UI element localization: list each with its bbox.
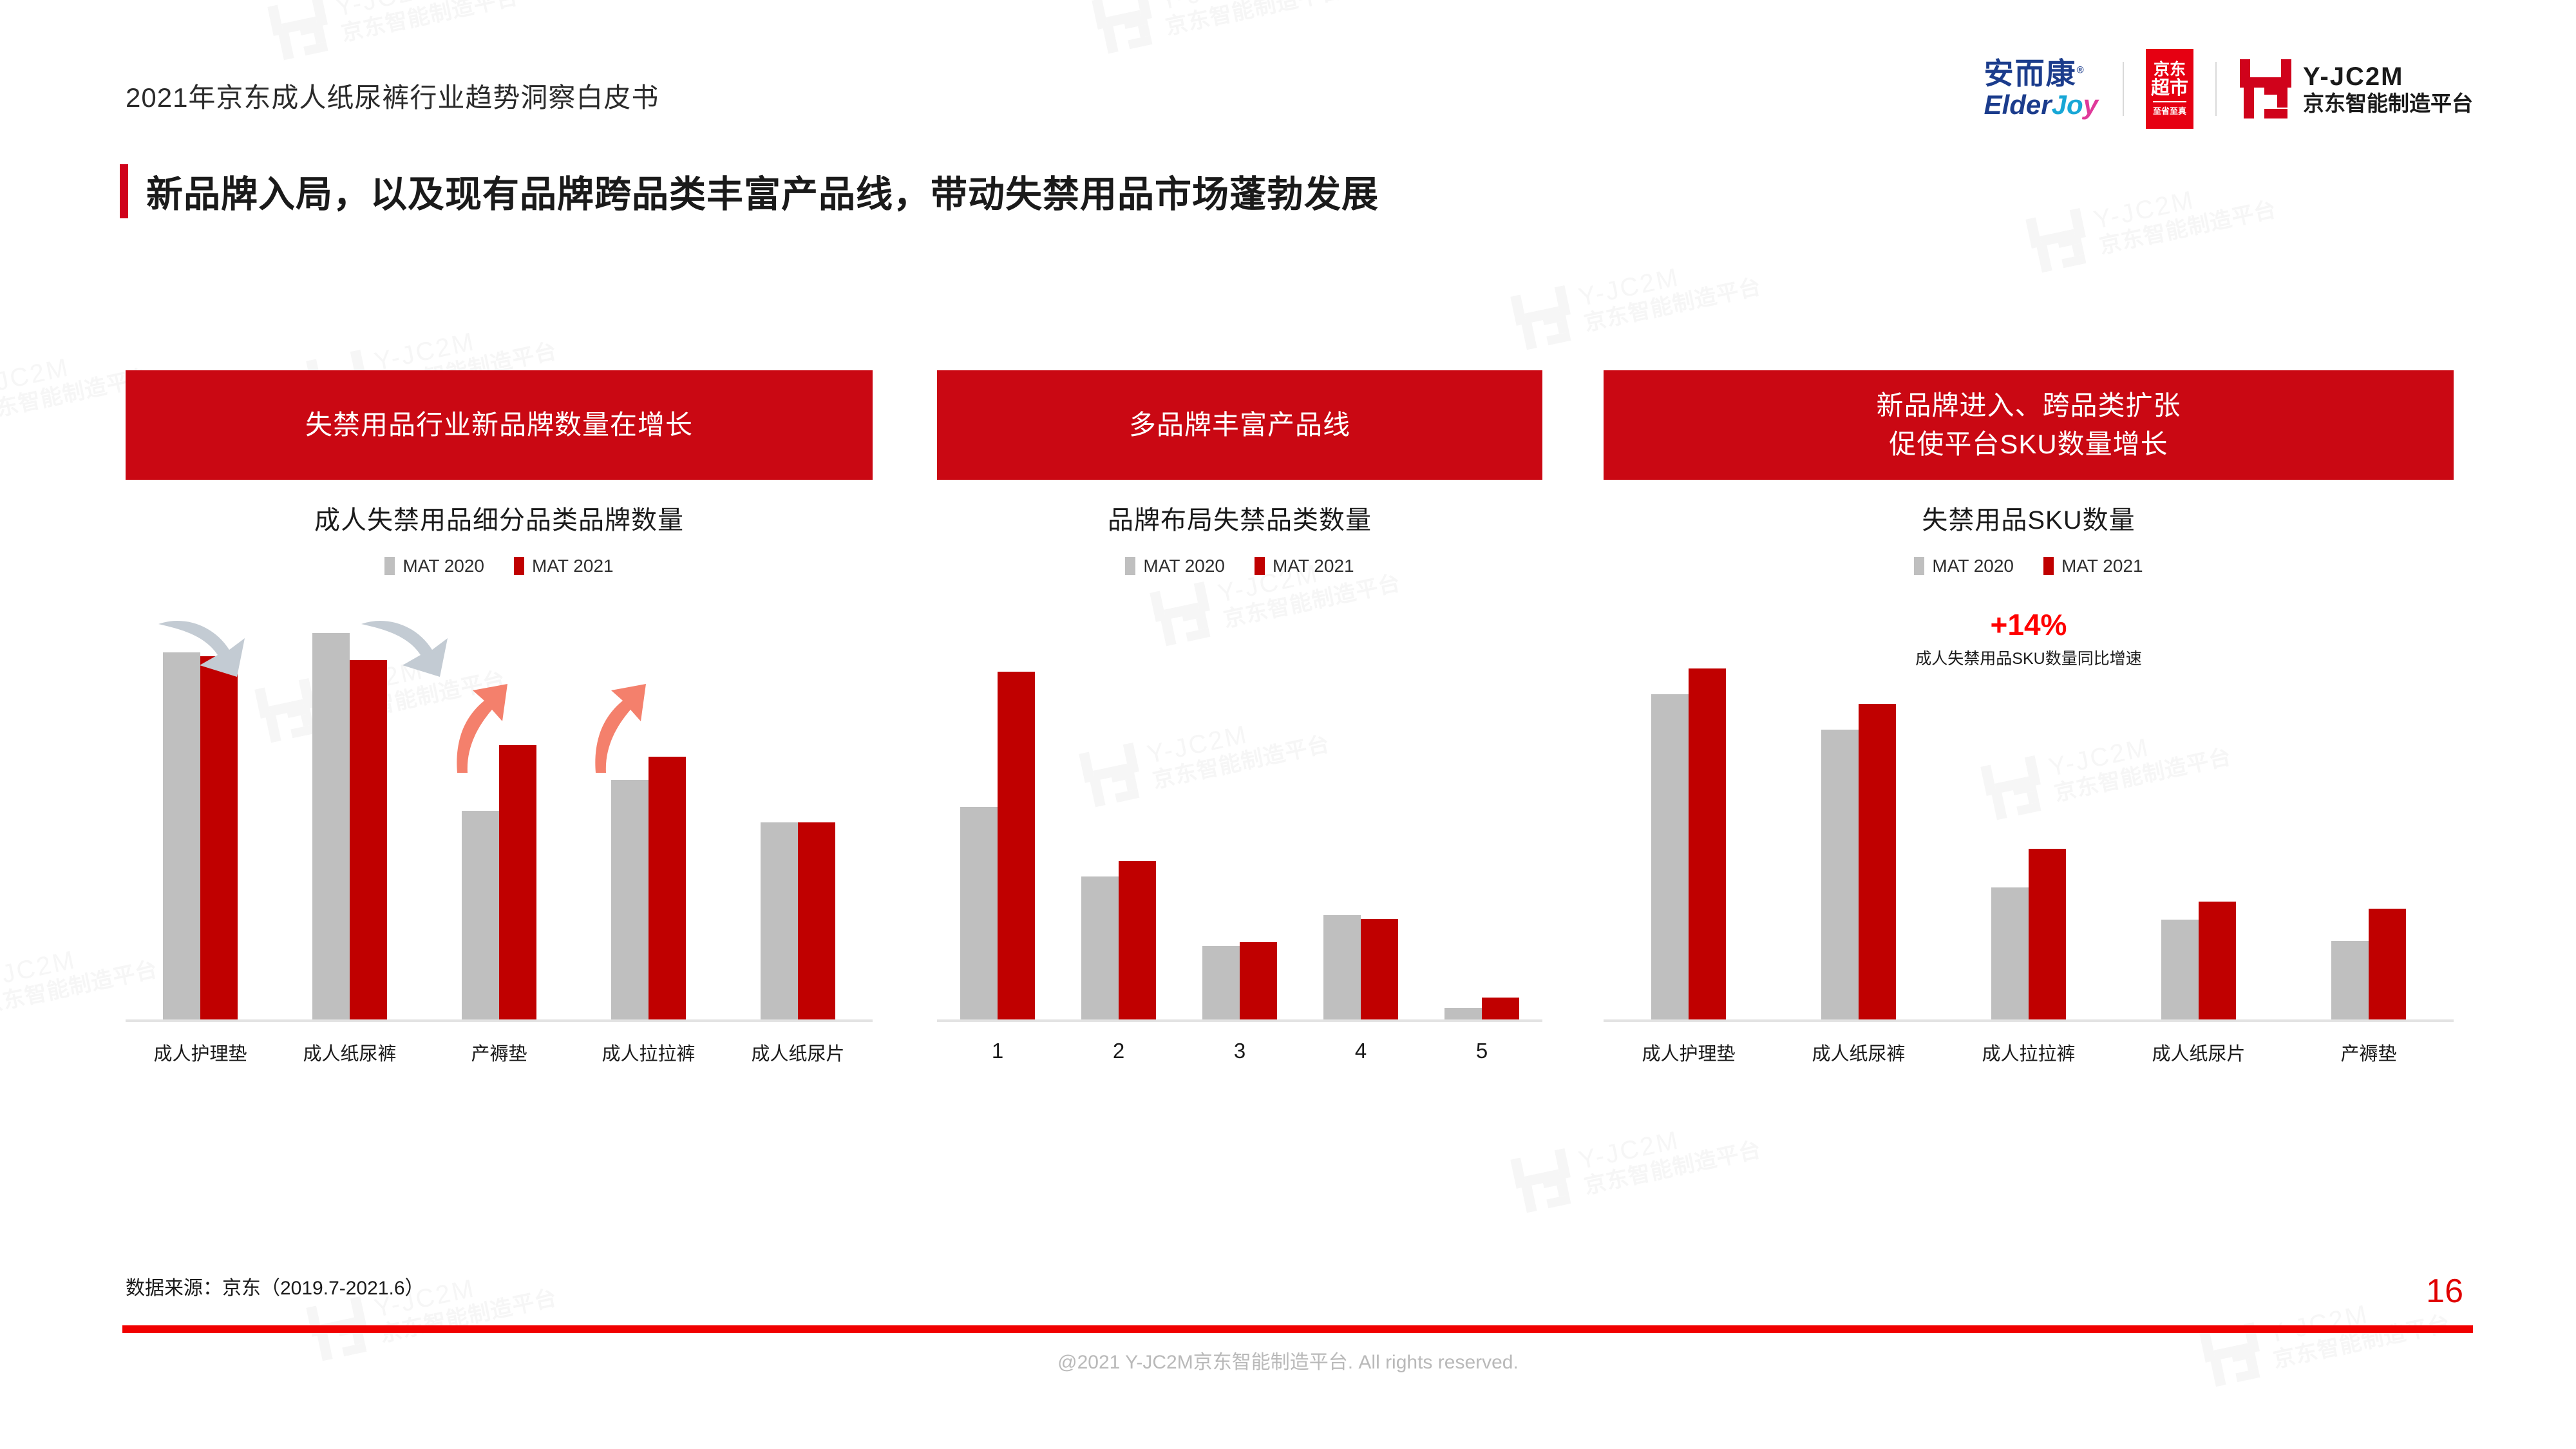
bar-mat2020 bbox=[1991, 887, 2029, 1019]
down-arrow-icon-2 bbox=[357, 610, 454, 684]
watermark-en: Y-JC2M bbox=[2091, 169, 2273, 235]
watermark-cn: 京东智能制造平台 bbox=[1164, 0, 1345, 40]
panel-banner-line: 多品牌丰富产品线 bbox=[1129, 406, 1350, 444]
legend-swatch-gray bbox=[1125, 557, 1135, 575]
bar-mat2020 bbox=[960, 807, 998, 1019]
yjc2m-en-text: Y-JC2M bbox=[2303, 62, 2473, 91]
jd-supermarket-line3: 至省至真 bbox=[2153, 101, 2186, 117]
bar-mat2021 bbox=[1689, 668, 1726, 1019]
bar-group bbox=[1179, 942, 1300, 1019]
title-accent-bar bbox=[120, 164, 128, 218]
watermark-en: Y-JC2M bbox=[2265, 1283, 2447, 1349]
panel-banner: 多品牌丰富产品线 bbox=[937, 370, 1542, 480]
panel-banner-line: 新品牌进入、跨品类扩张 bbox=[1876, 386, 2181, 425]
panel-banner: 新品牌进入、跨品类扩张 促使平台SKU数量增长 bbox=[1604, 370, 2454, 480]
legend-item-mat2021: MAT 2021 bbox=[2043, 556, 2143, 576]
chart-title: 品牌布局失禁品类数量 bbox=[937, 499, 1542, 536]
bar-mat2020 bbox=[1081, 876, 1119, 1019]
bar-group bbox=[723, 822, 873, 1019]
registered-mark-icon: ® bbox=[2077, 65, 2085, 76]
elderjoy-logo: 安而康® ElderJoy bbox=[1984, 59, 2123, 119]
bar-mat2020 bbox=[1202, 946, 1240, 1019]
page-title: 新品牌入局，以及现有品牌跨品类丰富产品线，带动失禁用品市场蓬勃发展 bbox=[120, 164, 1379, 218]
legend-swatch-gray bbox=[384, 557, 395, 575]
logo-group: 安而康® ElderJoy 京东 超市 至省至真 Y-JC2M 京东智能制造平台 bbox=[1984, 50, 2473, 128]
panel-brand-count: 失禁用品行业新品牌数量在增长 成人失禁用品细分品类品牌数量 MAT 2020 M… bbox=[126, 370, 873, 1066]
watermark: Y-JC2M京东智能制造平台 bbox=[2025, 168, 2278, 274]
chart-plot-area bbox=[937, 616, 1542, 1022]
x-label: 4 bbox=[1300, 1039, 1421, 1063]
elderjoy-y-glyph: y bbox=[2083, 90, 2098, 120]
copyright-text: @2021 Y-JC2M京东智能制造平台. All rights reserve… bbox=[0, 1346, 2576, 1374]
bar-group bbox=[2114, 902, 2284, 1019]
x-label: 3 bbox=[1179, 1039, 1300, 1063]
bar-mat2020 bbox=[2331, 941, 2369, 1019]
watermark: Y-JC2M京东智能制造平台 bbox=[1092, 0, 1345, 55]
bar-group bbox=[126, 652, 275, 1019]
x-label: 成人护理垫 bbox=[126, 1039, 275, 1066]
x-label: 产褥垫 bbox=[424, 1039, 574, 1066]
up-arrow-icon-2 bbox=[583, 677, 647, 777]
watermark-en: Y-JC2M bbox=[372, 311, 554, 377]
bar-mat2020 bbox=[611, 780, 649, 1019]
elderjoy-o-glyph: o bbox=[2067, 90, 2083, 120]
bar-group bbox=[275, 633, 424, 1019]
chart-category-coverage: 1 2 3 4 5 bbox=[937, 616, 1542, 1063]
legend-item-mat2021: MAT 2021 bbox=[514, 556, 614, 576]
x-label: 1 bbox=[937, 1039, 1058, 1063]
bar-mat2021 bbox=[1240, 942, 1277, 1019]
bar-mat2020 bbox=[2161, 920, 2199, 1019]
legend-label: MAT 2020 bbox=[402, 556, 484, 576]
chart-legend: MAT 2020 MAT 2021 bbox=[1604, 556, 2454, 576]
bar-mat2021 bbox=[798, 822, 835, 1019]
growth-caption: 成人失禁用品SKU数量同比增速 bbox=[1765, 646, 2293, 669]
bar-mat2021 bbox=[1482, 998, 1519, 1019]
bar-mat2020 bbox=[1444, 1008, 1482, 1019]
bar-mat2020 bbox=[462, 811, 499, 1019]
bar-mat2021 bbox=[649, 757, 686, 1019]
chart-axis-line bbox=[937, 1019, 1542, 1022]
bar-mat2021 bbox=[350, 660, 387, 1019]
watermark: Y-JC2M京东智能制造平台 bbox=[267, 0, 520, 61]
bar-group bbox=[1421, 998, 1542, 1019]
chart-axis-line bbox=[126, 1019, 873, 1022]
bar-group bbox=[1604, 668, 1774, 1019]
watermark-cn: 京东智能制造平台 bbox=[1582, 1137, 1764, 1198]
chart-title: 失禁用品SKU数量 bbox=[1604, 499, 2454, 536]
bar-group bbox=[1300, 915, 1421, 1019]
bar-mat2020 bbox=[1323, 915, 1361, 1019]
panel-category-coverage: 多品牌丰富产品线 品牌布局失禁品类数量 MAT 2020 MAT 2021 1 … bbox=[937, 370, 1542, 1063]
yjc2m-watermark-icon bbox=[2025, 208, 2091, 274]
chart-legend: MAT 2020 MAT 2021 bbox=[937, 556, 1542, 576]
legend-swatch-red bbox=[2043, 557, 2054, 575]
jd-supermarket-line1: 京东 bbox=[2154, 61, 2186, 78]
legend-label: MAT 2021 bbox=[2061, 556, 2143, 576]
chart-x-labels: 成人护理垫 成人纸尿裤 成人拉拉裤 成人纸尿片 产褥垫 bbox=[1604, 1039, 2454, 1066]
legend-swatch-gray bbox=[1914, 557, 1924, 575]
chart-sku-count: +14% 成人失禁用品SKU数量同比增速 成人护理垫 成人纸尿裤 成人拉拉裤 成… bbox=[1604, 616, 2454, 1066]
bar-group bbox=[1944, 849, 2114, 1019]
x-label: 成人拉拉裤 bbox=[1944, 1039, 2114, 1066]
bar-group bbox=[937, 672, 1058, 1019]
logo-divider bbox=[2123, 62, 2124, 116]
watermark-cn: 京东智能制造平台 bbox=[339, 0, 521, 46]
bar-mat2021 bbox=[2369, 909, 2406, 1019]
bar-group bbox=[424, 745, 574, 1019]
bar-mat2021 bbox=[2199, 902, 2236, 1019]
watermark-en: Y-JC2M bbox=[1576, 1110, 1758, 1175]
panel-banner: 失禁用品行业新品牌数量在增长 bbox=[126, 370, 873, 480]
legend-item-mat2020: MAT 2020 bbox=[384, 556, 484, 576]
bar-group bbox=[574, 757, 723, 1019]
growth-badge: +14% 成人失禁用品SKU数量同比增速 bbox=[1765, 610, 2293, 669]
watermark-cn: 京东智能制造平台 bbox=[1582, 274, 1764, 336]
bar-group bbox=[1774, 704, 1944, 1019]
page-title-text: 新品牌入局，以及现有品牌跨品类丰富产品线，带动失禁用品市场蓬勃发展 bbox=[146, 165, 1379, 218]
elderjoy-cn-text: 安而康 bbox=[1984, 57, 2077, 90]
x-label: 成人拉拉裤 bbox=[574, 1039, 723, 1066]
x-label: 成人护理垫 bbox=[1604, 1039, 1774, 1066]
x-label: 2 bbox=[1058, 1039, 1179, 1063]
bar-mat2021 bbox=[1859, 704, 1896, 1019]
watermark-en: Y-JC2M bbox=[1157, 0, 1340, 16]
chart-legend: MAT 2020 MAT 2021 bbox=[126, 556, 873, 576]
document-title: 2021年京东成人纸尿裤行业趋势洞察白皮书 bbox=[126, 76, 659, 115]
chart-x-labels: 成人护理垫 成人纸尿裤 产褥垫 成人拉拉裤 成人纸尿片 bbox=[126, 1039, 873, 1066]
panel-banner-line: 促使平台SKU数量增长 bbox=[1889, 425, 2168, 464]
x-label: 5 bbox=[1421, 1039, 1542, 1063]
page-number: 16 bbox=[2426, 1272, 2463, 1311]
down-arrow-icon-1 bbox=[155, 610, 251, 684]
jd-supermarket-line2: 超市 bbox=[2151, 79, 2188, 98]
watermark: Y-JC2M京东智能制造平台 bbox=[1510, 1108, 1763, 1214]
x-label: 产褥垫 bbox=[2284, 1039, 2454, 1066]
chart-plot-area bbox=[1604, 616, 2454, 1022]
bar-mat2020 bbox=[761, 822, 798, 1019]
bar-mat2020 bbox=[163, 652, 200, 1019]
bar-group bbox=[2284, 909, 2454, 1019]
yjc2m-watermark-icon bbox=[1510, 285, 1576, 351]
yjc2m-watermark-icon bbox=[1510, 1148, 1576, 1214]
elderjoy-en-text: Elder bbox=[1984, 90, 2052, 120]
panel-banner-line: 失禁用品行业新品牌数量在增长 bbox=[305, 406, 693, 444]
yjc2m-mark-icon bbox=[2240, 59, 2291, 118]
bar-mat2020 bbox=[1651, 694, 1689, 1019]
growth-value: +14% bbox=[1765, 610, 2293, 639]
legend-label: MAT 2020 bbox=[1932, 556, 2014, 576]
x-label: 成人纸尿裤 bbox=[275, 1039, 424, 1066]
x-label: 成人纸尿片 bbox=[2114, 1039, 2284, 1066]
yjc2m-cn-text: 京东智能制造平台 bbox=[2303, 92, 2473, 115]
x-label: 成人纸尿裤 bbox=[1774, 1039, 1944, 1066]
chart-x-labels: 1 2 3 4 5 bbox=[937, 1039, 1542, 1063]
legend-swatch-red bbox=[1255, 557, 1265, 575]
legend-item-mat2021: MAT 2021 bbox=[1255, 556, 1354, 576]
up-arrow-icon-1 bbox=[444, 677, 509, 777]
legend-label: MAT 2020 bbox=[1143, 556, 1225, 576]
chart-axis-line bbox=[1604, 1019, 2454, 1022]
chart-brand-count: 成人护理垫 成人纸尿裤 产褥垫 成人拉拉裤 成人纸尿片 bbox=[126, 616, 873, 1066]
watermark-en: Y-JC2M bbox=[1576, 247, 1758, 312]
footer-divider bbox=[122, 1325, 2473, 1333]
bar-mat2021 bbox=[2029, 849, 2066, 1019]
bar-mat2021 bbox=[200, 656, 238, 1019]
elderjoy-j-glyph: J bbox=[2052, 90, 2067, 120]
legend-item-mat2020: MAT 2020 bbox=[1125, 556, 1225, 576]
legend-swatch-red bbox=[514, 557, 524, 575]
bar-mat2020 bbox=[1821, 730, 1859, 1019]
yjc2m-watermark-icon bbox=[1092, 0, 1157, 55]
data-source-note: 数据来源：京东（2019.7-2021.6） bbox=[126, 1272, 424, 1300]
yjc2m-logo: Y-JC2M 京东智能制造平台 bbox=[2217, 59, 2473, 118]
bar-mat2021 bbox=[1119, 861, 1156, 1019]
watermark-en: Y-JC2M bbox=[333, 0, 515, 23]
bar-mat2021 bbox=[1361, 919, 1398, 1019]
bar-mat2021 bbox=[499, 745, 536, 1019]
x-label: 成人纸尿片 bbox=[723, 1039, 873, 1066]
yjc2m-watermark-icon bbox=[267, 0, 333, 61]
legend-label: MAT 2021 bbox=[532, 556, 614, 576]
legend-label: MAT 2021 bbox=[1273, 556, 1354, 576]
legend-item-mat2020: MAT 2020 bbox=[1914, 556, 2014, 576]
watermark-cn: 京东智能制造平台 bbox=[2098, 197, 2279, 258]
bar-mat2020 bbox=[312, 633, 350, 1019]
bar-group bbox=[1058, 861, 1179, 1019]
watermark: Y-JC2M京东智能制造平台 bbox=[1510, 245, 1763, 351]
bar-mat2021 bbox=[998, 672, 1035, 1019]
panel-sku-growth: 新品牌进入、跨品类扩张 促使平台SKU数量增长 失禁用品SKU数量 MAT 20… bbox=[1604, 370, 2454, 1066]
jd-supermarket-logo: 京东 超市 至省至真 bbox=[2146, 49, 2193, 129]
slide-root: Y-JC2M京东智能制造平台 Y-JC2M京东智能制造平台 Y-JC2M京东智能… bbox=[0, 0, 2576, 1449]
chart-title: 成人失禁用品细分品类品牌数量 bbox=[126, 499, 873, 536]
